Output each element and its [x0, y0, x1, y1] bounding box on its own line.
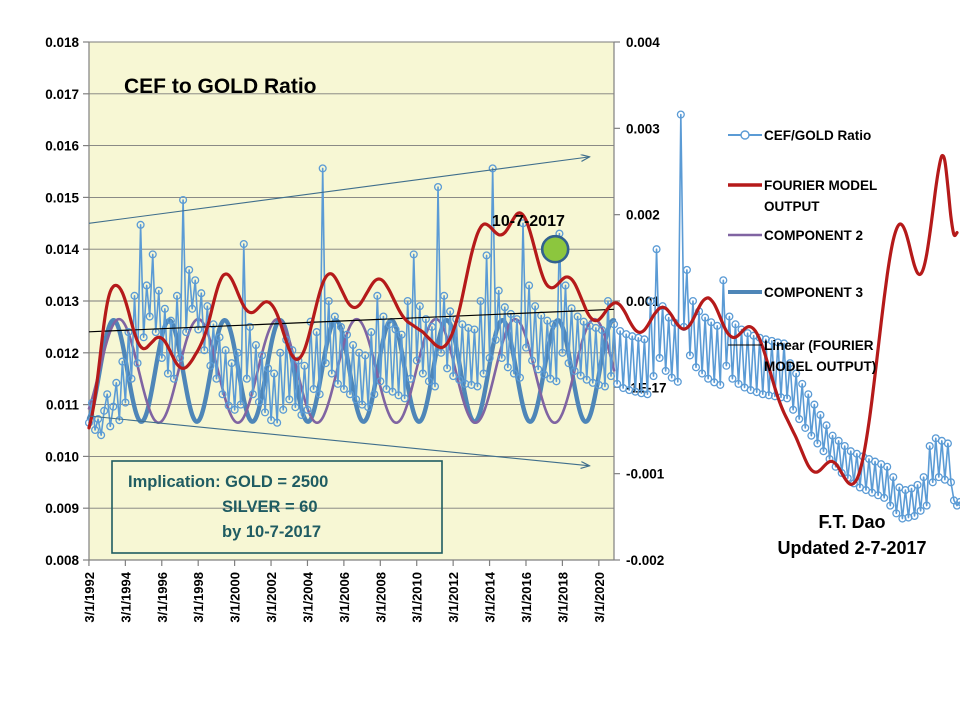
y-axis-right-tick-label: 0.003: [626, 121, 660, 136]
y-axis-left-tick-label: 0.014: [45, 242, 79, 257]
footer-updated: Updated 2-7-2017: [777, 538, 926, 558]
x-axis-tick-label: 3/1/1996: [155, 572, 170, 623]
legend-item-2[interactable]: COMPONENT 2: [728, 228, 863, 243]
x-axis-tick-label: 3/1/1998: [191, 572, 206, 623]
implication-line2: SILVER = 60: [222, 498, 318, 516]
implication-line1: Implication: GOLD = 2500: [128, 473, 328, 491]
x-axis-tick-label: 3/1/2006: [337, 572, 352, 623]
implication-line3: by 10-7-2017: [222, 523, 321, 541]
legend-label: COMPONENT 3: [764, 285, 864, 300]
x-axis-tick-label: 3/1/2004: [300, 571, 315, 622]
legend-item-3[interactable]: COMPONENT 3: [728, 285, 864, 300]
y-axis-right-tick-label: -0.001: [626, 467, 665, 482]
y-axis-left-tick-label: 0.008: [45, 553, 79, 568]
forecast-marker: [542, 236, 568, 262]
legend-label: OUTPUT: [764, 199, 820, 214]
x-axis-tick-label: 3/1/2010: [410, 572, 425, 623]
x-axis-tick-label: 3/1/2014: [483, 571, 498, 622]
y-axis-left-tick-label: 0.017: [45, 87, 79, 102]
cef-gold-ratio-chart: 0.0080.0090.0100.0110.0120.0130.0140.015…: [0, 0, 960, 720]
legend-label: Linear (FOURIER: [764, 338, 874, 353]
y-axis-left-tick-label: 0.013: [45, 294, 79, 309]
legend-label: CEF/GOLD Ratio: [764, 128, 871, 143]
footer: F.T. DaoUpdated 2-7-2017: [777, 512, 926, 558]
y-axis-left-tick-label: 0.018: [45, 35, 79, 50]
chart-title: CEF to GOLD Ratio: [124, 75, 317, 98]
chart-title-text: CEF to GOLD Ratio: [124, 75, 317, 98]
y-axis-right-tick-label: 0.004: [626, 35, 660, 50]
x-axis-tick-label: 3/1/2012: [446, 572, 461, 623]
legend-item-0[interactable]: CEF/GOLD Ratio: [728, 128, 871, 143]
y-axis-left-tick-label: 0.009: [45, 501, 79, 516]
y-axis-right-tick-label: -0.002: [626, 553, 664, 568]
x-axis-tick-label: 3/1/2016: [519, 572, 534, 623]
forecast-date-label: 10-7-2017: [492, 213, 565, 230]
x-axis-tick-label: 3/1/1994: [118, 571, 133, 622]
legend-label: COMPONENT 2: [764, 228, 863, 243]
legend-label: MODEL OUTPUT): [764, 359, 876, 374]
y-axis-left-tick-label: 0.010: [45, 449, 79, 464]
x-axis-tick-label: 3/1/1992: [82, 572, 97, 623]
x-axis: 3/1/19923/1/19943/1/19963/1/19983/1/2000…: [82, 560, 614, 623]
legend-label: FOURIER MODEL: [764, 178, 877, 193]
y-axis-left-tick-label: 0.016: [45, 139, 79, 154]
x-axis-tick-label: 3/1/2020: [592, 572, 607, 623]
y-axis-left-tick-label: 0.012: [45, 346, 79, 361]
x-axis-tick-label: 3/1/2002: [264, 572, 279, 623]
y-axis-left-tick-label: 0.015: [45, 190, 79, 205]
legend-item-1[interactable]: FOURIER MODELOUTPUT: [728, 178, 877, 214]
y-axis-right-tick-label: 0.002: [626, 208, 660, 223]
x-axis-tick-label: 3/1/2008: [373, 572, 388, 623]
x-axis-tick-label: 3/1/2018: [555, 572, 570, 623]
x-axis-tick-label: 3/1/2000: [228, 572, 243, 623]
legend-swatch-marker: [741, 131, 749, 139]
chart-container: 0.0080.0090.0100.0110.0120.0130.0140.015…: [0, 0, 960, 720]
y-axis-left-tick-label: 0.011: [46, 398, 80, 413]
y-axis-left: 0.0080.0090.0100.0110.0120.0130.0140.015…: [45, 35, 89, 568]
footer-author: F.T. Dao: [818, 512, 885, 532]
